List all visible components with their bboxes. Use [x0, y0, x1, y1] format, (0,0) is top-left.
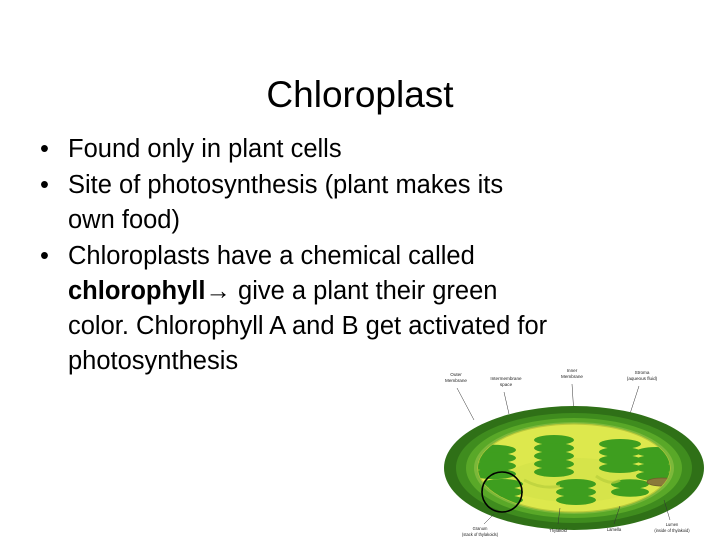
label-lumen: Lumen (inside of thylakoid)	[654, 522, 690, 533]
bullet-list: • Found only in plant cells • Site of ph…	[28, 132, 688, 380]
svg-text:Membrane: Membrane	[561, 374, 583, 379]
svg-text:(inside of thylakoid): (inside of thylakoid)	[654, 528, 690, 533]
svg-text:Intermembrane: Intermembrane	[490, 376, 522, 381]
svg-text:space: space	[500, 382, 513, 387]
bullet-marker: •	[40, 132, 49, 167]
bullet-line-rest: → give a plant their green	[205, 277, 497, 305]
svg-text:(stack of thylakoids): (stack of thylakoids)	[462, 532, 499, 537]
granum-stack	[556, 479, 596, 505]
granum-stack	[534, 435, 574, 477]
label-inner-membrane: Inner Membrane	[561, 368, 583, 379]
svg-text:Granum: Granum	[473, 526, 488, 531]
svg-text:Thylakoid: Thylakoid	[549, 528, 567, 533]
bullet-line-mixed: chlorophyll→ give a plant their green	[68, 274, 688, 309]
page-title: Chloroplast	[0, 73, 720, 117]
list-item: • Chloroplasts have a chemical called ch…	[28, 239, 688, 379]
svg-text:Membrane: Membrane	[445, 378, 467, 383]
bullet-line: color. Chlorophyll A and B get activated…	[68, 309, 688, 344]
label-thylakoid: Thylakoid	[549, 528, 567, 533]
bullet-marker: •	[40, 168, 49, 203]
bullet-line: Chloroplasts have a chemical called	[68, 239, 688, 274]
label-lamella: Lamella	[607, 527, 622, 532]
bullet-marker: •	[40, 239, 49, 274]
chloroplast-diagram: Outer Membrane Intermembrane space Inner…	[424, 368, 720, 540]
bullet-line: own food)	[68, 203, 688, 238]
bullet-line: Site of photosynthesis (plant makes its	[68, 168, 688, 203]
label-outer-membrane: Outer Membrane	[445, 372, 467, 383]
svg-text:Outer: Outer	[450, 372, 462, 377]
emphasis-chlorophyll: chlorophyll	[68, 277, 205, 305]
label-granum: Granum (stack of thylakoids)	[462, 526, 499, 537]
svg-text:Lumen: Lumen	[666, 522, 679, 527]
slide-canvas: Chloroplast • Found only in plant cells …	[0, 0, 720, 540]
svg-text:Inner: Inner	[567, 368, 578, 373]
label-intermembrane-space: Intermembrane space	[490, 376, 522, 387]
list-item: • Found only in plant cells	[28, 132, 688, 167]
svg-text:Stroma: Stroma	[635, 370, 650, 375]
svg-text:Lamella: Lamella	[607, 527, 622, 532]
label-stroma: Stroma (aqueous fluid)	[627, 370, 658, 381]
svg-text:(aqueous fluid): (aqueous fluid)	[627, 376, 658, 381]
bullet-line: Found only in plant cells	[68, 132, 688, 167]
list-item: • Site of photosynthesis (plant makes it…	[28, 168, 688, 238]
